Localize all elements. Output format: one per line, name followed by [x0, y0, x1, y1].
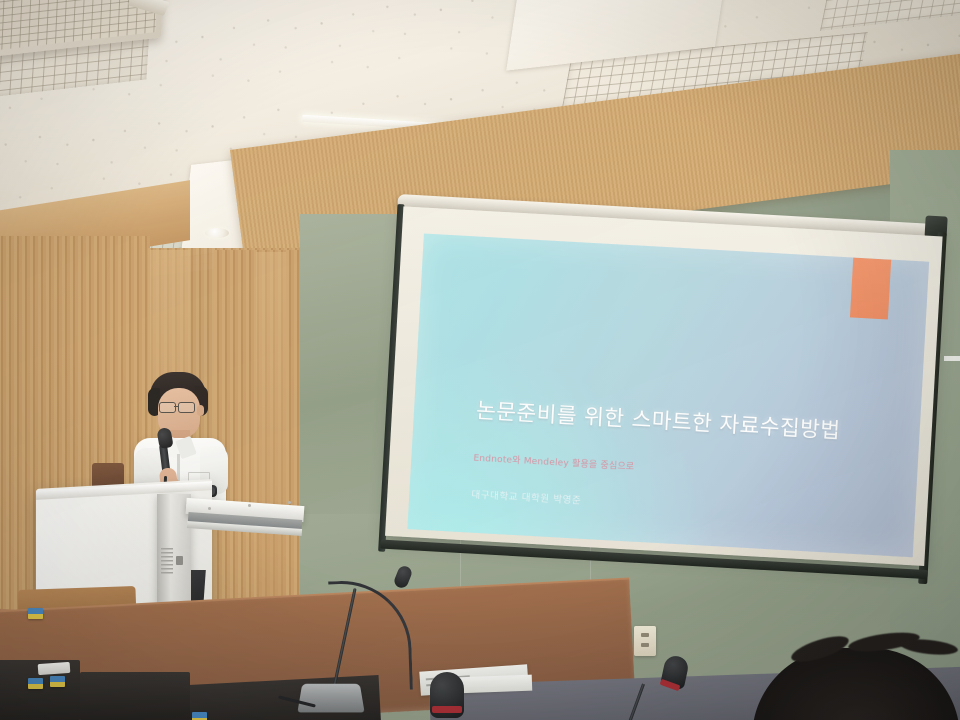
glasses-left-lens [159, 402, 176, 413]
chair-tag-4 [192, 712, 207, 720]
lectern-screw-3 [288, 501, 291, 504]
slide-glow [407, 339, 736, 557]
foreground-mic-band [432, 706, 462, 713]
wood-column [256, 252, 286, 638]
chair-tag-1 [28, 608, 43, 619]
photo-scene: 논문준비를 위한 스마트한 자료수집방법 Endnote와 Mendeley 활… [0, 0, 960, 720]
tissue-on-table [38, 662, 71, 675]
projected-slide: 논문준비를 위한 스마트한 자료수집방법 Endnote와 Mendeley 활… [407, 234, 929, 558]
chair-tag-2 [28, 678, 43, 689]
chair-tag-3 [50, 676, 65, 687]
projector-screen[interactable]: 논문준비를 위한 스마트한 자료수집방법 Endnote와 Mendeley 활… [377, 196, 959, 599]
wall-outlet[interactable] [634, 626, 656, 656]
ear [197, 405, 204, 416]
glasses-bridge [174, 406, 179, 407]
lectern-vents [161, 548, 173, 574]
lectern-button[interactable] [176, 556, 183, 565]
papers-second-sheet[interactable] [456, 675, 533, 694]
gooseneck-mic-base[interactable] [297, 684, 364, 713]
glasses-right-lens [178, 402, 195, 413]
screen-surface: 논문준비를 위한 스마트한 자료수집방법 Endnote와 Mendeley 활… [385, 206, 943, 566]
lectern-screw-1 [208, 507, 211, 510]
lectern-screw-2 [248, 504, 251, 507]
slide-accent-block [850, 258, 891, 320]
ceiling-downlight-left [205, 228, 229, 238]
chair-dark-2[interactable] [80, 672, 190, 720]
